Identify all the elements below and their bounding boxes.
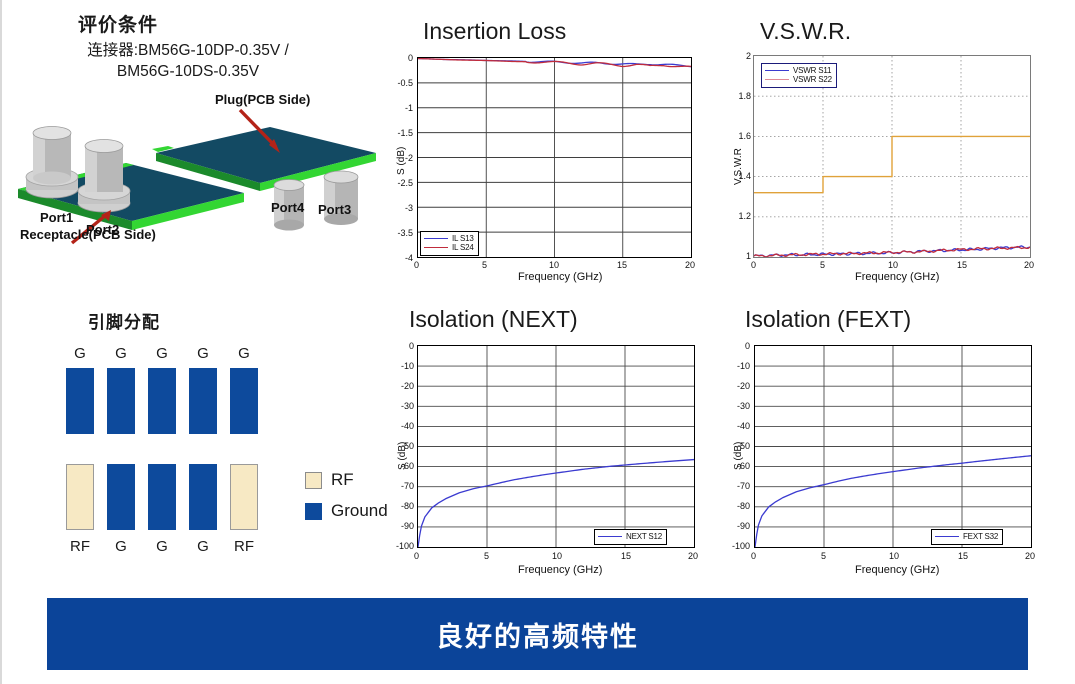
pin-bar bbox=[66, 464, 94, 530]
legend-line-icon bbox=[424, 247, 448, 248]
legend-label: IL S13 bbox=[452, 234, 474, 243]
pin-bar bbox=[107, 368, 135, 434]
pin-bar bbox=[107, 464, 135, 530]
legend-label: VSWR S22 bbox=[793, 75, 832, 84]
pin-legend-label: Ground bbox=[331, 501, 388, 521]
pin-bottom-label: RF bbox=[230, 538, 258, 555]
chart-title: V.S.W.R. bbox=[760, 18, 851, 45]
pin-bottom-label: G bbox=[148, 538, 176, 555]
legend-line-icon bbox=[765, 70, 789, 71]
bottom-banner: 良好的高频特性 bbox=[47, 598, 1028, 670]
y-tick: 0 bbox=[393, 53, 413, 63]
pin-bar bbox=[230, 368, 258, 434]
x-tick: 5 bbox=[484, 551, 489, 561]
y-tick: -70 bbox=[390, 481, 414, 491]
pin-legend-entry-ground: Ground bbox=[305, 501, 388, 521]
pin-legend: RF Ground bbox=[305, 470, 388, 532]
y-tick: -20 bbox=[726, 381, 750, 391]
y-tick: -0.5 bbox=[393, 78, 413, 88]
rf-swatch-icon bbox=[305, 472, 322, 489]
pin-bar bbox=[66, 368, 94, 434]
y-tick: -3.5 bbox=[393, 228, 413, 238]
pin-top-label: G bbox=[189, 345, 217, 362]
pin-bar bbox=[148, 368, 176, 434]
pin-top-label: G bbox=[148, 345, 176, 362]
y-tick: 0 bbox=[390, 341, 414, 351]
legend-entry: NEXT S12 bbox=[598, 532, 662, 541]
x-tick: 10 bbox=[889, 551, 899, 561]
x-axis-label: Frequency (GHz) bbox=[518, 271, 602, 283]
chart-legend: NEXT S12 bbox=[594, 529, 667, 545]
y-tick: -1.5 bbox=[393, 128, 413, 138]
pin-bottom-label: G bbox=[189, 538, 217, 555]
x-tick: 20 bbox=[685, 260, 695, 270]
banner-text: 良好的高频特性 bbox=[436, 615, 639, 654]
legend-label: FEXT S32 bbox=[963, 532, 998, 541]
label-port3: Port3 bbox=[318, 202, 351, 217]
connector-model-line2: BM56G-10DS-0.35V bbox=[38, 61, 338, 82]
y-tick: 1.2 bbox=[731, 211, 751, 221]
y-tick: -30 bbox=[726, 401, 750, 411]
y-tick: 0 bbox=[726, 341, 750, 351]
y-tick: -3 bbox=[393, 203, 413, 213]
legend-line-icon bbox=[765, 79, 789, 80]
x-tick: 20 bbox=[1024, 260, 1034, 270]
y-tick: -100 bbox=[388, 541, 414, 551]
chart-legend: VSWR S11 VSWR S22 bbox=[761, 63, 837, 88]
x-tick: 20 bbox=[1025, 551, 1035, 561]
pin-top-label: G bbox=[107, 345, 135, 362]
label-port4: Port4 bbox=[271, 200, 304, 215]
connector-model-line1: 连接器:BM56G-10DP-0.35V / bbox=[87, 42, 289, 59]
x-tick: 15 bbox=[617, 260, 627, 270]
evaluation-conditions-title: 评价条件 bbox=[78, 10, 158, 37]
y-tick: 1.6 bbox=[731, 131, 751, 141]
y-tick: -70 bbox=[726, 481, 750, 491]
x-tick: 0 bbox=[751, 260, 756, 270]
x-tick: 10 bbox=[549, 260, 559, 270]
x-tick: 10 bbox=[552, 551, 562, 561]
legend-entry: VSWR S11 bbox=[765, 66, 832, 75]
pin-bottom-label: RF bbox=[66, 538, 94, 555]
y-tick: -10 bbox=[390, 361, 414, 371]
legend-label: VSWR S11 bbox=[793, 66, 831, 75]
label-plug-pcb-side: Plug(PCB Side) bbox=[215, 92, 310, 107]
y-tick: -90 bbox=[726, 521, 750, 531]
x-axis-label: Frequency (GHz) bbox=[518, 564, 602, 576]
chart-title: Isolation (FEXT) bbox=[745, 306, 911, 333]
pin-top-label: G bbox=[230, 345, 258, 362]
y-tick: 1.8 bbox=[731, 91, 751, 101]
x-tick: 0 bbox=[414, 260, 419, 270]
ground-swatch-icon bbox=[305, 503, 322, 520]
y-tick: -60 bbox=[726, 461, 750, 471]
x-axis-label: Frequency (GHz) bbox=[855, 271, 939, 283]
y-tick: -90 bbox=[390, 521, 414, 531]
pin-legend-label: RF bbox=[331, 470, 354, 490]
x-tick: 5 bbox=[820, 260, 825, 270]
pin-bar bbox=[189, 368, 217, 434]
plot-area bbox=[754, 345, 1032, 548]
slide-canvas: 评价条件 连接器:BM56G-10DP-0.35V / BM56G-10DS-0… bbox=[0, 0, 1075, 684]
pin-legend-entry-rf: RF bbox=[305, 470, 388, 490]
y-tick: -20 bbox=[390, 381, 414, 391]
y-tick: -4 bbox=[393, 253, 413, 263]
pin-bar bbox=[230, 464, 258, 530]
pin-bottom-label: G bbox=[107, 538, 135, 555]
x-tick: 15 bbox=[957, 260, 967, 270]
label-port1: Port1 bbox=[40, 210, 73, 225]
legend-label: IL S24 bbox=[452, 243, 474, 252]
x-tick: 0 bbox=[751, 551, 756, 561]
x-tick: 15 bbox=[621, 551, 631, 561]
legend-entry: IL S13 bbox=[424, 234, 474, 243]
pin-assignment-diagram: G G G G G RF G G G RF bbox=[60, 340, 360, 555]
y-tick: 1.4 bbox=[731, 171, 751, 181]
y-tick: -40 bbox=[726, 421, 750, 431]
pin-top-labels: G G G G G bbox=[66, 345, 258, 362]
y-tick: -1 bbox=[393, 103, 413, 113]
legend-entry: FEXT S32 bbox=[935, 532, 998, 541]
y-tick: -10 bbox=[726, 361, 750, 371]
y-tick: -100 bbox=[724, 541, 750, 551]
legend-entry: VSWR S22 bbox=[765, 75, 832, 84]
chart-title: Insertion Loss bbox=[423, 18, 566, 45]
y-tick: 2 bbox=[731, 51, 751, 61]
legend-line-icon bbox=[935, 536, 959, 537]
y-tick: -50 bbox=[390, 441, 414, 451]
pin-bottom-labels: RF G G G RF bbox=[66, 538, 258, 555]
x-tick: 5 bbox=[482, 260, 487, 270]
y-tick: -50 bbox=[726, 441, 750, 451]
x-tick: 10 bbox=[888, 260, 898, 270]
legend-line-icon bbox=[424, 238, 448, 239]
pin-assignment-title: 引脚分配 bbox=[88, 308, 160, 333]
x-tick: 5 bbox=[821, 551, 826, 561]
y-tick: -80 bbox=[726, 501, 750, 511]
y-tick: -2 bbox=[393, 153, 413, 163]
chart-title: Isolation (NEXT) bbox=[409, 306, 578, 333]
y-tick: -30 bbox=[390, 401, 414, 411]
legend-line-icon bbox=[598, 536, 622, 537]
label-receptacle-pcb-side: Receptacle(PCB Side) bbox=[20, 227, 156, 242]
y-tick: -2.5 bbox=[393, 178, 413, 188]
connector-model-text: 连接器:BM56G-10DP-0.35V / BM56G-10DS-0.35V bbox=[38, 40, 338, 82]
x-axis-label: Frequency (GHz) bbox=[855, 564, 939, 576]
legend-label: NEXT S12 bbox=[626, 532, 662, 541]
pin-top-label: G bbox=[66, 345, 94, 362]
y-tick: -60 bbox=[390, 461, 414, 471]
plot-area bbox=[417, 345, 695, 548]
y-tick: -40 bbox=[390, 421, 414, 431]
y-tick: 1 bbox=[731, 251, 751, 261]
pin-bar bbox=[148, 464, 176, 530]
x-tick: 20 bbox=[688, 551, 698, 561]
pin-bar bbox=[189, 464, 217, 530]
chart-legend: FEXT S32 bbox=[931, 529, 1003, 545]
pin-top-row bbox=[66, 368, 258, 434]
x-tick: 0 bbox=[414, 551, 419, 561]
x-tick: 15 bbox=[958, 551, 968, 561]
plot-area bbox=[417, 57, 692, 258]
chart-legend: IL S13 IL S24 bbox=[420, 231, 479, 256]
legend-entry: IL S24 bbox=[424, 243, 474, 252]
pin-bottom-row bbox=[66, 464, 258, 530]
y-tick: -80 bbox=[390, 501, 414, 511]
